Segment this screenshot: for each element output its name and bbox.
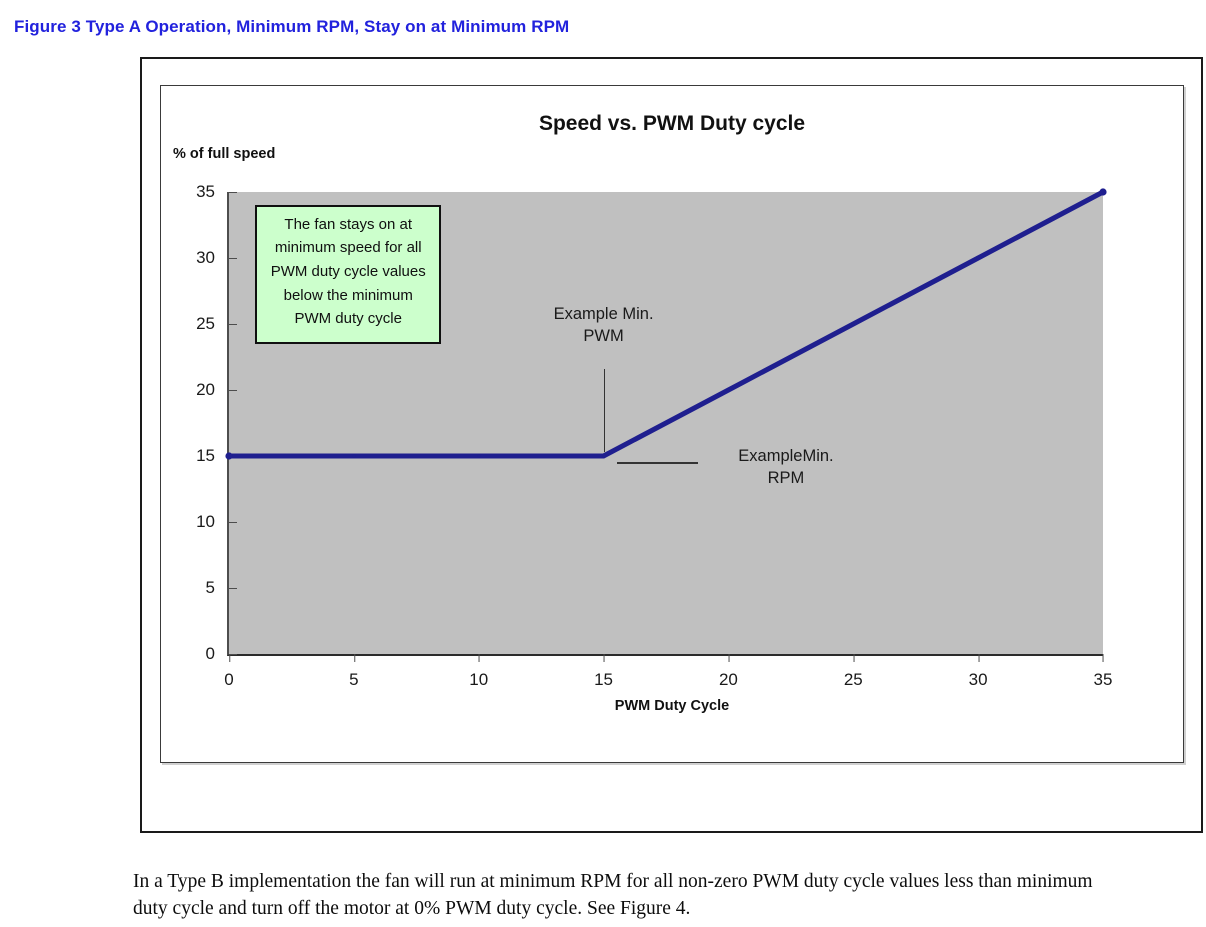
series-point-marker [225,452,232,459]
x-axis-tick: 35 [1094,654,1113,690]
chart-title: Speed vs. PWM Duty cycle [161,112,1183,136]
figure-caption: Figure 3 Type A Operation, Minimum RPM, … [14,17,569,37]
y-axis-tick: 25 [196,314,229,334]
x-axis-tick: 25 [844,654,863,690]
series-point-marker [727,388,730,391]
x-axis-tick-label: 30 [969,670,988,690]
x-axis-title: PWM Duty Cycle [161,698,1183,714]
x-axis-tick-mark [479,654,480,662]
x-axis-tick-mark [978,654,979,662]
y-axis-tick-label: 20 [196,380,229,400]
y-axis-tick-label: 15 [196,446,229,466]
x-axis-tick-mark [604,654,605,662]
plot-inner: 0510152025303505101520253035The fan stay… [229,192,1103,654]
y-axis-tick-label: 10 [196,512,229,532]
x-axis-tick: 15 [594,654,613,690]
y-axis-tick-label: 30 [196,248,229,268]
y-axis-tick: 10 [196,512,229,532]
series-point-marker [477,454,480,457]
x-axis-tick-label: 20 [719,670,738,690]
x-axis-tick-label: 25 [844,670,863,690]
x-axis-tick-label: 5 [349,670,358,690]
x-axis-tick-label: 10 [469,670,488,690]
series-point-marker [1099,188,1106,195]
min-rpm-annotation-label: ExampleMin. RPM [706,445,866,490]
y-axis-title: % of full speed [173,146,275,162]
y-axis-tick-label: 5 [206,578,229,598]
x-axis-tick: 20 [719,654,738,690]
min-rpm-leader-line [617,462,698,464]
series-point-marker [852,322,855,325]
x-axis-tick-label: 15 [594,670,613,690]
y-axis-tick: 30 [196,248,229,268]
x-axis-tick-mark [853,654,854,662]
y-axis-tick-label: 25 [196,314,229,334]
callout-annotation-box: The fan stays on at minimum speed for al… [255,205,441,344]
x-axis-tick: 5 [349,654,358,690]
x-axis-tick: 10 [469,654,488,690]
y-axis-tick: 20 [196,380,229,400]
min-pwm-leader-line [604,369,606,452]
chart-container: Speed vs. PWM Duty cycle % of full speed… [160,85,1184,763]
x-axis-tick-mark [728,654,729,662]
y-axis-tick: 15 [196,446,229,466]
plot-area: 0510152025303505101520253035The fan stay… [227,192,1103,656]
body-paragraph: In a Type B implementation the fan will … [133,868,1098,923]
x-axis-tick-mark [1103,654,1104,662]
min-pwm-annotation-label: Example Min. PWM [519,303,689,348]
x-axis-tick-mark [229,654,230,662]
y-axis-tick: 5 [206,578,229,598]
x-axis-tick: 0 [224,654,233,690]
series-point-marker [977,256,980,259]
y-axis-tick: 35 [196,182,229,202]
series-point-marker [352,454,355,457]
x-axis-tick-label: 35 [1094,670,1113,690]
x-axis-tick-label: 0 [224,670,233,690]
x-axis-tick-mark [354,654,355,662]
x-axis-tick: 30 [969,654,988,690]
y-axis-tick-label: 35 [196,182,229,202]
series-point-marker [602,454,605,457]
